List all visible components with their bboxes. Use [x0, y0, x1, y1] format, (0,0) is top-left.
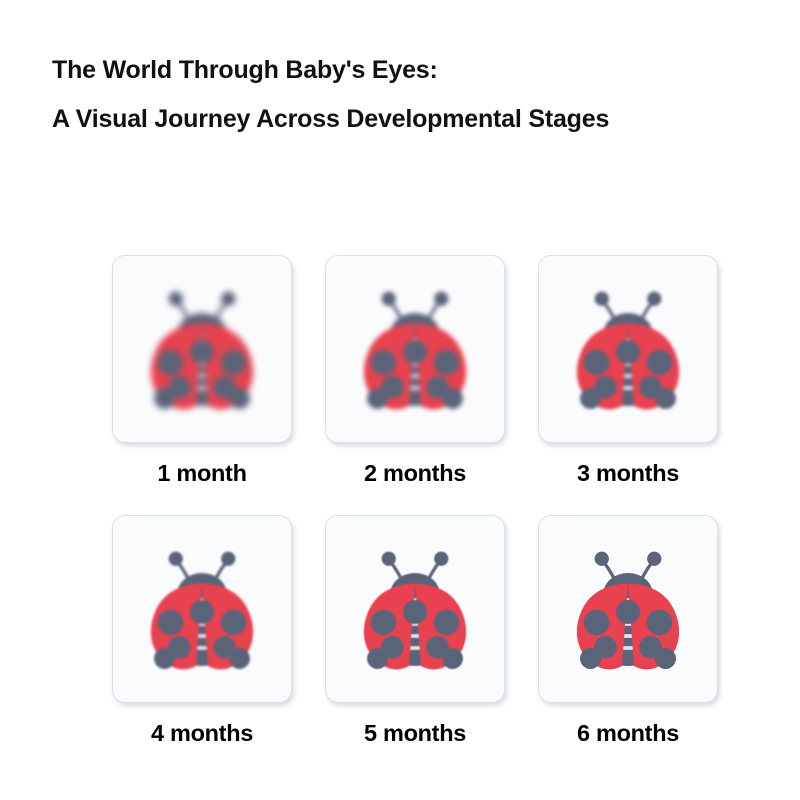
ladybug-image [112, 515, 292, 703]
stage-card-label: 4 months [151, 720, 253, 747]
ladybug-icon [553, 534, 703, 684]
stage-card-label: 2 months [364, 460, 466, 487]
stage-card[interactable] [112, 255, 292, 443]
ladybug-image [538, 255, 718, 443]
stage-card-cell: 5 months [325, 515, 505, 775]
ladybug-image [325, 255, 505, 443]
stage-card-cell: 4 months [112, 515, 292, 775]
ladybug-image [325, 515, 505, 703]
stage-card[interactable] [538, 515, 718, 703]
ladybug-image [538, 515, 718, 703]
page-root: The World Through Baby's Eyes: A Visual … [0, 0, 800, 800]
ladybug-icon [553, 274, 703, 424]
ladybug-icon [340, 274, 490, 424]
stage-card-label: 5 months [364, 720, 466, 747]
stage-card-label: 1 month [157, 460, 246, 487]
stage-card-cell: 6 months [538, 515, 718, 775]
stage-card[interactable] [325, 255, 505, 443]
stage-card-label: 6 months [577, 720, 679, 747]
stage-card[interactable] [538, 255, 718, 443]
ladybug-icon [340, 534, 490, 684]
stage-card-label: 3 months [577, 460, 679, 487]
stage-card-cell: 1 month [112, 255, 292, 515]
stage-card-cell: 2 months [325, 255, 505, 515]
stage-card-cell: 3 months [538, 255, 718, 515]
stage-card-grid: 1 month [112, 255, 718, 775]
ladybug-icon [127, 534, 277, 684]
ladybug-icon [127, 274, 277, 424]
stage-card[interactable] [112, 515, 292, 703]
ladybug-image [112, 255, 292, 443]
title-line-1: The World Through Baby's Eyes: [52, 58, 782, 83]
stage-card[interactable] [325, 515, 505, 703]
title-line-2: A Visual Journey Across Developmental St… [52, 107, 782, 132]
page-title: The World Through Baby's Eyes: A Visual … [52, 58, 782, 132]
